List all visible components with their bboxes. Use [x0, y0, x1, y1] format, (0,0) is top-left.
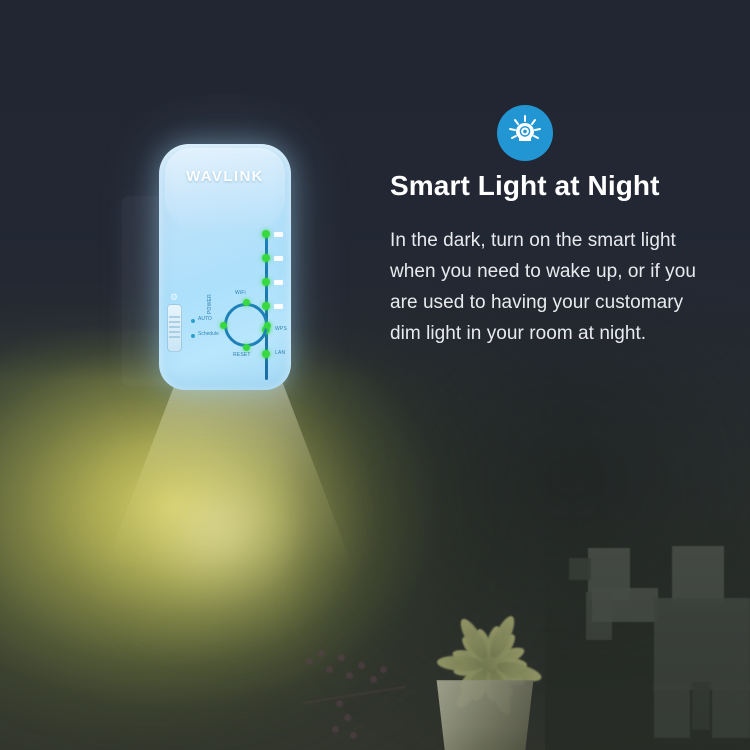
dial-label-wifi: WiFi: [235, 290, 246, 296]
led-rung: [274, 280, 283, 285]
dial-led-right: [264, 322, 271, 329]
block-snout-left: [569, 558, 591, 580]
power-mode-icon: ⚙: [168, 291, 180, 303]
led-rung: [274, 304, 283, 309]
block-leg-left: [654, 682, 690, 738]
block-head-right: [672, 546, 724, 604]
block-leg-right: [712, 682, 750, 738]
dial-label-power: POWER: [207, 294, 213, 314]
led-indicator: [262, 350, 270, 358]
dial-led-bottom: [243, 344, 250, 351]
option-label-schedule: Schedule: [198, 331, 219, 337]
option-label-auto: AUTO: [198, 316, 212, 322]
led-indicator: [262, 302, 270, 310]
feature-title: Smart Light at Night: [390, 170, 720, 202]
option-bullet-auto: [191, 319, 195, 323]
led-rung: [274, 256, 283, 261]
device-dial-loop[interactable]: [224, 303, 268, 347]
led-label-lan: LAN: [275, 350, 285, 356]
sprig-branch: [302, 686, 405, 704]
led-indicator: [262, 278, 270, 286]
dial-led-left: [220, 322, 227, 329]
sprig-bud: [336, 700, 343, 707]
block-body-right: [654, 598, 750, 690]
sprig-bud: [346, 672, 353, 679]
feature-description: In the dark, turn on the smart light whe…: [390, 225, 710, 349]
dial-label-reset: RESET: [233, 352, 251, 358]
block-body-left: [592, 588, 658, 622]
sprig-bud: [358, 662, 365, 669]
device-brand-logo: WAVLINK: [159, 168, 291, 185]
lightbulb-icon: [505, 113, 545, 153]
led-indicator: [262, 254, 270, 262]
sprig-bud: [344, 714, 351, 721]
sprig-bud: [370, 676, 377, 683]
dial-led-top: [243, 299, 250, 306]
wavlink-range-extender[interactable]: WAVLINK WPS LAN WiFi POWER RESET ⚙ AUTO: [159, 144, 291, 390]
led-rung: [274, 232, 283, 237]
block-leg-gap: [692, 682, 710, 730]
sprig-bud: [332, 726, 339, 733]
mode-switch-grip: [169, 316, 180, 340]
product-feature-banner: WAVLINK WPS LAN WiFi POWER RESET ⚙ AUTO: [0, 0, 750, 750]
sprig-bud: [350, 732, 357, 739]
led-indicator: [262, 230, 270, 238]
device-gloss-highlight: [165, 148, 285, 234]
ceramic-pot-shade: [430, 680, 540, 750]
sprig-bud: [380, 666, 387, 673]
lightbulb-icon-badge: [497, 105, 553, 161]
option-bullet-schedule: [191, 334, 195, 338]
led-label-wps: WPS: [275, 326, 287, 332]
sprig-bud: [326, 666, 333, 673]
